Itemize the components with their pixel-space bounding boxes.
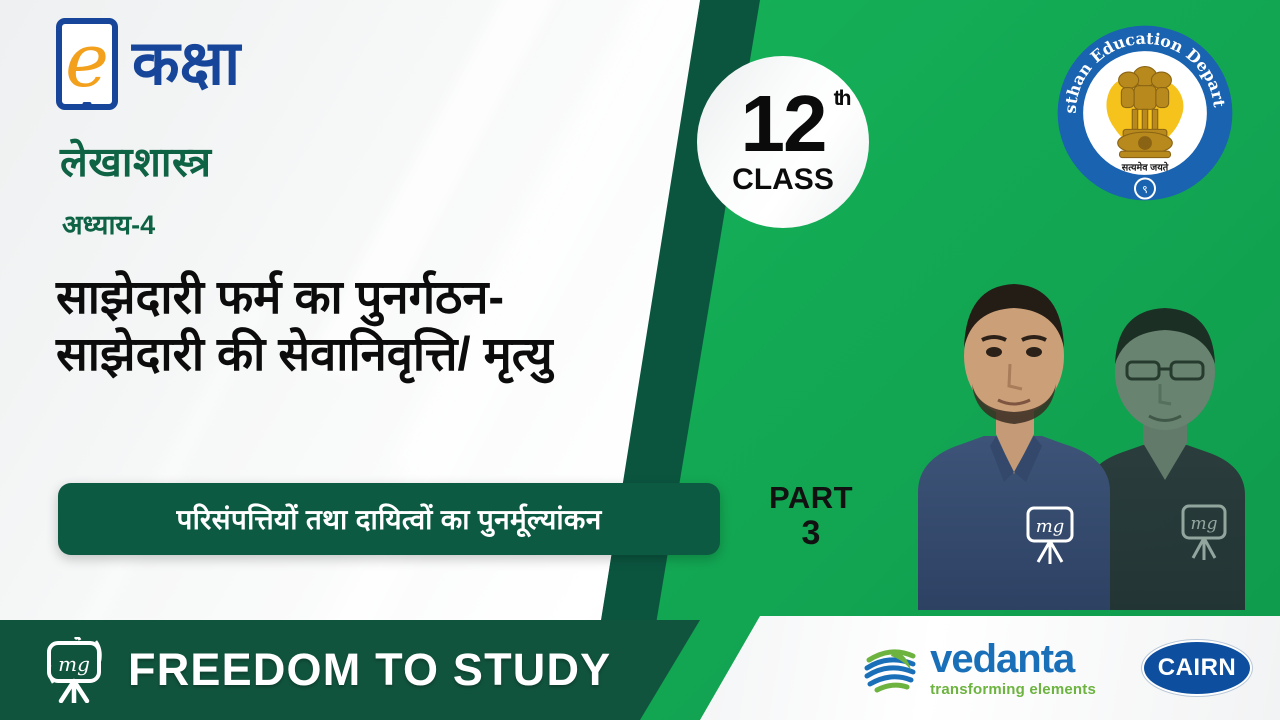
footer-tagline: FREEDOM TO STUDY xyxy=(128,644,611,696)
logo-letter-e: e xyxy=(65,33,109,91)
class-number: 12 th xyxy=(741,87,826,161)
svg-text:mg: mg xyxy=(1036,516,1065,537)
tablet-icon: e xyxy=(56,18,118,110)
part-label: PART xyxy=(748,482,874,515)
topic-badge-label: परिसंपत्तियों तथा दायित्वों का पुनर्मूल्… xyxy=(176,500,601,538)
instructors-photo: mg mg xyxy=(900,215,1280,610)
class-number-suffix: th xyxy=(834,89,850,108)
thumbnail-canvas: mg mg xyxy=(0,0,1280,720)
svg-text:९: ९ xyxy=(1142,183,1148,196)
svg-text:mg: mg xyxy=(1190,514,1217,534)
cairn-name: CAIRN xyxy=(1158,654,1237,682)
svg-text:mg: mg xyxy=(58,652,90,676)
lesson-title: साझेदारी फर्म का पुनर्गठन- साझेदारी की स… xyxy=(56,268,856,383)
emblem-motto: सत्यमेव जयते xyxy=(1121,161,1169,173)
ekaksha-logo: e कक्षा xyxy=(56,18,240,110)
lesson-title-line1: साझेदारी फर्म का पुनर्गठन- xyxy=(56,270,504,323)
vedanta-sphere-icon xyxy=(863,640,919,696)
instructor-front: mg xyxy=(910,260,1125,610)
cairn-logo: CAIRN xyxy=(1142,640,1252,696)
subject-title: लेखाशास्त्र xyxy=(60,133,212,189)
logo-word: कक्षा xyxy=(132,33,240,95)
topic-badge: परिसंपत्तियों तथा दायित्वों का पुनर्मूल्… xyxy=(58,483,720,555)
footer-bar: mg FREEDOM TO STUDY xyxy=(0,620,760,720)
sponsor-bar: vedanta transforming elements CAIRN xyxy=(700,616,1280,720)
mg-easel-icon: mg xyxy=(44,637,106,703)
chapter-label: अध्याय-4 xyxy=(62,205,155,242)
lesson-title-line2: साझेदारी की सेवानिवृत्ति/ मृत्यु xyxy=(56,325,856,382)
vedanta-tagline: transforming elements xyxy=(930,682,1096,697)
vedanta-name: vedanta xyxy=(930,639,1096,679)
class-badge: 12 th CLASS xyxy=(697,56,869,228)
part-indicator: PART 3 xyxy=(748,482,874,551)
vedanta-logo: vedanta transforming elements xyxy=(863,639,1096,697)
part-number: 3 xyxy=(748,515,874,551)
rajasthan-education-department-emblem: Rajasthan Education Department सत्यमेव ज… xyxy=(1054,22,1236,204)
class-number-value: 12 xyxy=(741,79,826,168)
